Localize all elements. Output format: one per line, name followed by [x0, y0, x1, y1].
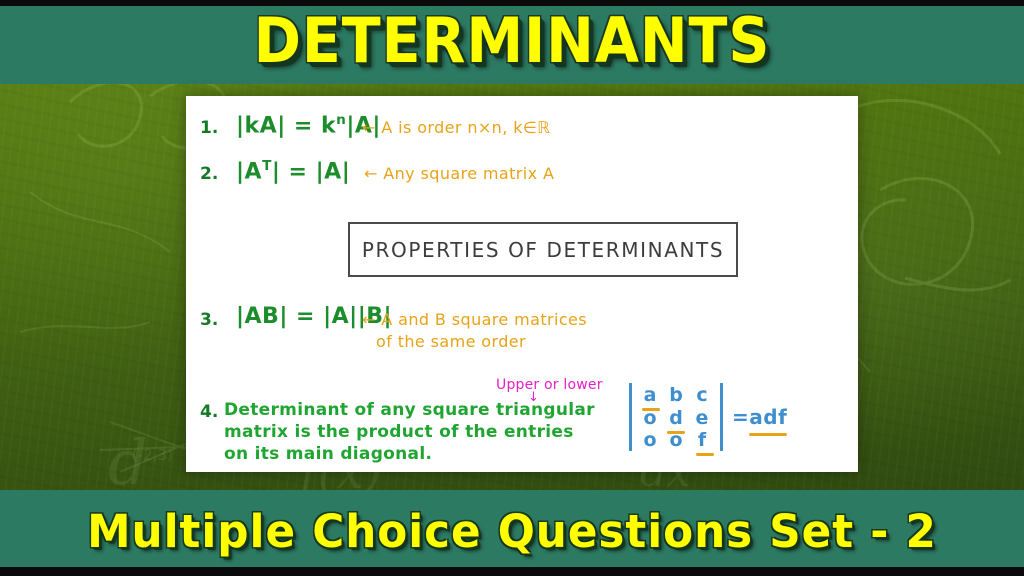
property-1-formula-prefix: |kA| = k [236, 113, 336, 138]
callout-arrow-icon: ↓ [528, 390, 539, 405]
property-2-number: 2. [200, 164, 218, 184]
matrix-result-value: adf [749, 405, 787, 429]
matrix-cell-r3c1: o [643, 429, 656, 451]
matrix-left-bar [629, 383, 632, 451]
matrix-cell-r1c3: c [696, 384, 707, 406]
property-2-formula-exponent: T [262, 158, 272, 174]
property-3-annotation-line1: ← A and B square matrices [362, 310, 587, 329]
matrix-cell-r1c1: a [644, 384, 657, 406]
matrix-cell-r2c2: d [669, 407, 683, 429]
property-2-formula: |AT| = |A| [236, 158, 350, 184]
properties-title-box: PROPERTIES OF DETERMINANTS [348, 222, 738, 277]
matrix-equals-sign: = [732, 405, 749, 429]
svg-text:(-2,3): (-2,3) [132, 446, 173, 464]
triangular-callout-label: Upper or lower [496, 377, 603, 393]
property-1-formula: |kA| = kn|A| [236, 112, 381, 138]
svg-text:d: d [108, 426, 148, 492]
page-title: DETERMINANTS [41, 0, 983, 84]
property-4-text-line3: on its main diagonal. [224, 444, 432, 464]
property-1-annotation: ← A is order n×n, k∈ℝ [362, 118, 550, 137]
page-subtitle: Multiple Choice Questions Set - 2 [15, 495, 1008, 569]
property-4-number: 4. [200, 402, 218, 422]
matrix-grid: a b c o d e o o f [637, 383, 715, 451]
triangular-matrix-example: a b c o d e o o f =adf [629, 383, 787, 451]
matrix-cell-r3c3: f [698, 429, 706, 451]
matrix-right-bar [720, 383, 723, 451]
property-3-number: 3. [200, 310, 218, 330]
property-1-number: 1. [200, 118, 218, 138]
whiteboard-panel: 1. |kA| = kn|A| ← A is order n×n, k∈ℝ 2.… [186, 96, 858, 472]
property-3-annotation-line2: of the same order [376, 332, 526, 351]
slide-canvas: d f(x) dx cos (-2,3) DETERMINANTS Multip… [0, 0, 1024, 576]
property-4-text-line2: matrix is the product of the entries [224, 422, 574, 442]
matrix-cell-r2c1: o [643, 407, 656, 429]
property-2-formula-prefix: |A [236, 159, 262, 184]
property-1-formula-exponent: n [336, 112, 346, 128]
matrix-result: =adf [732, 405, 787, 429]
matrix-cell-r3c2: o [669, 429, 682, 451]
property-2-annotation: ← Any square matrix A [364, 164, 554, 183]
matrix-cell-r1c2: b [669, 384, 683, 406]
property-2-formula-suffix: | = |A| [272, 159, 350, 184]
properties-title-label: PROPERTIES OF DETERMINANTS [350, 224, 736, 276]
property-4-text-line1: Determinant of any square triangular [224, 400, 595, 420]
matrix-cell-r2c3: e [696, 407, 709, 429]
